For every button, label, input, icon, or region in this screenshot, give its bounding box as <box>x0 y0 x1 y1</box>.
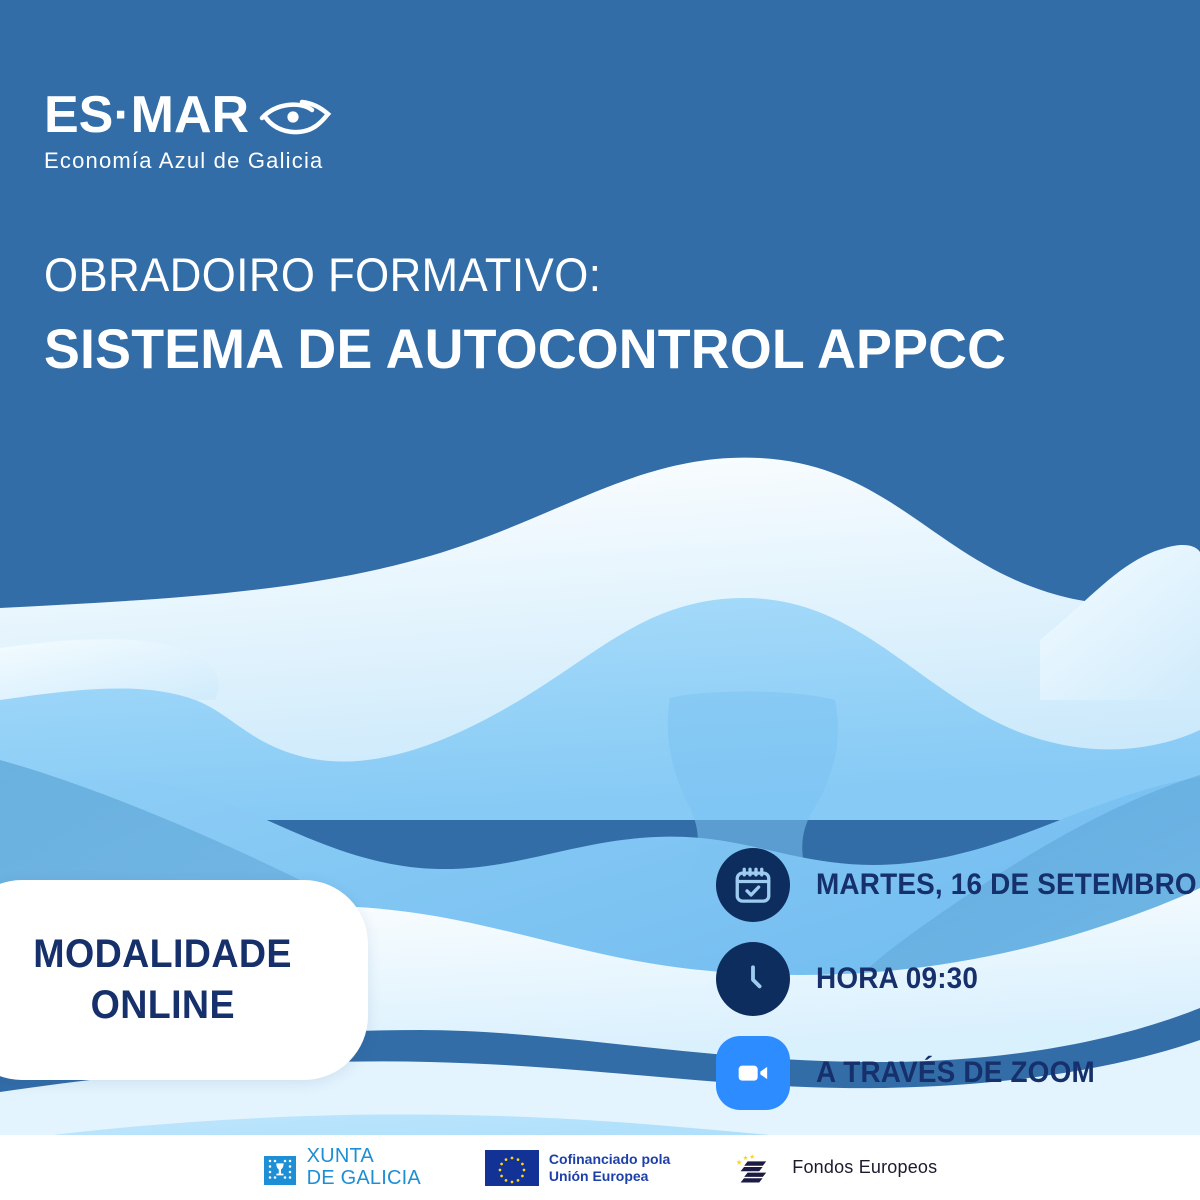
eu-flag-icon <box>485 1150 539 1186</box>
event-title: SISTEMA DE AUTOCONTROL APPCC <box>44 316 1006 381</box>
svg-text:ES·MAR: ES·MAR <box>44 88 249 144</box>
fondos-europeos-logo: Fondos Europeos <box>734 1149 937 1187</box>
footer-logos-band: XUNTA DE GALICIA Cofinanciado pola Unión… <box>0 1135 1200 1200</box>
xunta-logo-line-2: DE GALICIA <box>307 1168 421 1190</box>
video-camera-icon <box>716 1036 790 1110</box>
xunta-logo-text: XUNTA DE GALICIA <box>307 1146 421 1189</box>
european-union-logo: Cofinanciado pola Unión Europea <box>485 1150 670 1186</box>
eu-logo-line-2: Unión Europea <box>549 1168 670 1185</box>
detail-row-time: HORA 09:30 <box>716 942 1200 1016</box>
event-kicker: OBRADOIRO FORMATIVO: <box>44 247 601 302</box>
detail-row-platform: A TRAVÉS DE ZOOM <box>716 1036 1200 1110</box>
brand-logo: ES·MAR Economía Azul de Galicia <box>44 88 464 174</box>
detail-label-platform: A TRAVÉS DE ZOOM <box>816 1056 1095 1090</box>
fish-eye-pupil <box>287 111 298 122</box>
calendar-check-icon <box>716 848 790 922</box>
fondos-logo-text: Fondos Europeos <box>792 1157 937 1178</box>
detail-label-date: MARTES, 16 DE SETEMBRO <box>816 868 1197 902</box>
xunta-logo-line-1: XUNTA <box>307 1146 421 1168</box>
xunta-de-galicia-logo: XUNTA DE GALICIA <box>263 1146 421 1189</box>
detail-label-time: HORA 09:30 <box>816 962 978 996</box>
esmar-wordmark: ES·MAR <box>44 88 344 144</box>
fondos-stripes-icon <box>734 1149 782 1187</box>
eu-logo-text: Cofinanciado pola Unión Europea <box>549 1151 670 1184</box>
modality-line-1: MODALIDADE <box>34 930 293 979</box>
modality-line-2: ONLINE <box>91 981 235 1030</box>
poster-canvas: ES·MAR Economía Azul de Galicia OBRADOIR… <box>0 0 1200 1200</box>
clock-icon <box>716 942 790 1016</box>
brand-tagline: Economía Azul de Galicia <box>44 148 464 174</box>
xunta-shield-icon <box>263 1150 297 1186</box>
detail-row-date: MARTES, 16 DE SETEMBRO <box>716 848 1200 922</box>
event-details-list: MARTES, 16 DE SETEMBRO HORA 09:30 A TRAV… <box>716 848 1200 1110</box>
modality-badge: MODALIDADE ONLINE <box>0 880 368 1080</box>
eu-logo-line-1: Cofinanciado pola <box>549 1151 670 1168</box>
